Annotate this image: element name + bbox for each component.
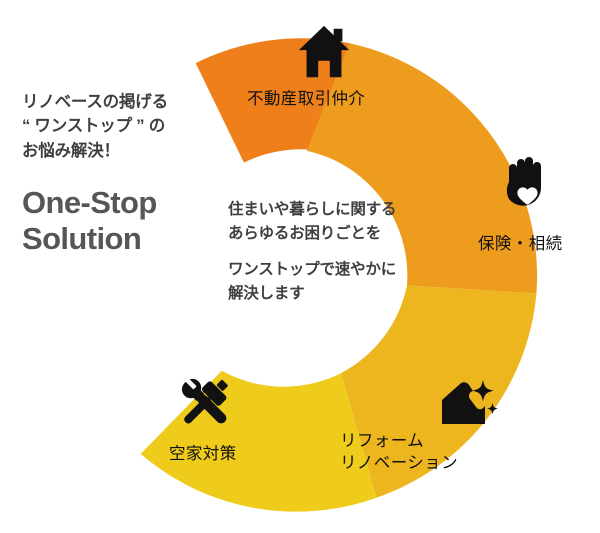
hammer-wrench-icon xyxy=(175,372,235,432)
infographic-canvas: リノベースの掲げる “ ワンストップ ” の お悩み解決！ One-Stop S… xyxy=(0,0,600,533)
segment-label-akiya: 空家対策 xyxy=(169,443,237,465)
segment-label-reform-line-1: リフォーム xyxy=(340,430,458,452)
house-sparkle-icon xyxy=(438,378,498,432)
segment-label-reform: リフォーム リノベーション xyxy=(340,430,458,475)
headline-line-1: One-Stop xyxy=(22,185,232,221)
center-line-2: あらゆるお困りごとを xyxy=(228,222,443,246)
segment-label-real-estate-line-1: 不動産取引仲介 xyxy=(247,88,365,110)
center-text-block: 住まいや暮らしに関する あらゆるお困りごとを ワンストップで速やかに 解決します xyxy=(228,198,443,305)
page-title: One-Stop Solution xyxy=(22,185,232,257)
center-line-1: 住まいや暮らしに関する xyxy=(228,198,443,222)
house-icon xyxy=(293,22,355,84)
left-text-block: リノベースの掲げる “ ワンストップ ” の お悩み解決！ One-Stop S… xyxy=(22,90,232,257)
hand-heart-icon xyxy=(498,155,556,217)
segment-label-reform-line-2: リノベーション xyxy=(340,452,458,474)
lead-line-2: “ ワンストップ ” の xyxy=(22,114,232,138)
headline-line-2: Solution xyxy=(22,221,232,257)
segment-label-akiya-line-1: 空家対策 xyxy=(169,443,237,465)
segment-label-insurance: 保険・相続 xyxy=(478,233,563,255)
center-line-3: ワンストップで速やかに xyxy=(228,258,443,282)
segment-label-real-estate: 不動産取引仲介 xyxy=(247,88,365,110)
center-line-4: 解決します xyxy=(228,282,443,306)
center-spacer xyxy=(228,245,443,258)
lead-line-1: リノベースの掲げる xyxy=(22,90,232,114)
lead-line-3: お悩み解決！ xyxy=(22,139,232,163)
segment-label-insurance-line-1: 保険・相続 xyxy=(478,233,563,255)
